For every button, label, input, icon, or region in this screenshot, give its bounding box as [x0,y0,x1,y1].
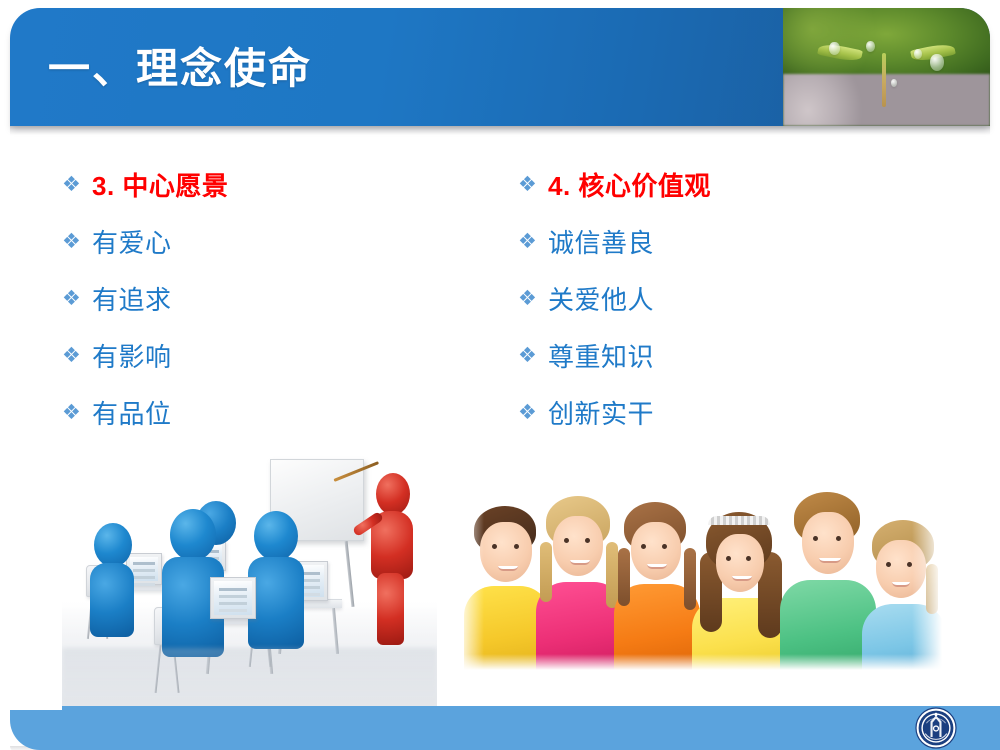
institution-seal-logo[interactable] [914,706,958,750]
list-item[interactable]: ❖ 创新实干 [518,384,938,441]
headband-icon [708,516,770,525]
children-group-photo [458,488,942,670]
child-figure [536,494,624,670]
list-item[interactable]: ❖ 4. 核心价值观 [518,156,938,213]
list-item[interactable]: ❖ 有品位 [62,384,482,441]
list-item-label: 关爱他人 [548,280,654,317]
diamond-bullet-icon: ❖ [518,345,548,366]
list-item[interactable]: ❖ 有爱心 [62,213,482,270]
header-shadow [10,126,990,135]
list-item-label: 4. 核心价值观 [548,166,711,203]
child-figure [614,498,700,670]
slide-header: 一、理念使命 [10,8,990,126]
footer-bar-right [62,706,1000,750]
diamond-bullet-icon: ❖ [62,345,92,366]
list-item[interactable]: ❖ 有追求 [62,270,482,327]
child-figure [692,506,788,670]
diamond-bullet-icon: ❖ [62,174,92,195]
list-item-label: 有追求 [92,280,172,317]
list-item-label: 有品位 [92,394,172,431]
footer-bar-left [10,710,120,750]
diamond-bullet-icon: ❖ [518,174,548,195]
list-item[interactable]: ❖ 诚信善良 [518,213,938,270]
diamond-bullet-icon: ❖ [62,402,92,423]
sprout-seedling-photo [783,8,990,126]
list-item-label: 3. 中心愿景 [92,166,228,203]
column-vision: ❖ 3. 中心愿景 ❖ 有爱心 ❖ 有追求 ❖ 有影响 ❖ 有品位 [62,156,482,441]
classroom-3d-illustration [62,437,437,707]
list-item-label: 有爱心 [92,223,172,260]
page-title: 一、理念使命 [48,48,312,90]
list-item-label: 诚信善良 [548,223,654,260]
list-item-label: 创新实干 [548,394,654,431]
slide-root: 一、理念使命 ❖ 3. 中心愿景 ❖ 有爱心 ❖ 有追求 ❖ 有影响 ❖ 有 [0,0,1000,750]
diamond-bullet-icon: ❖ [518,288,548,309]
list-item[interactable]: ❖ 尊重知识 [518,327,938,384]
diamond-bullet-icon: ❖ [62,288,92,309]
student-figure [86,523,142,651]
column-values: ❖ 4. 核心价值观 ❖ 诚信善良 ❖ 关爱他人 ❖ 尊重知识 ❖ 创新实干 [518,156,938,441]
diamond-bullet-icon: ❖ [62,231,92,252]
diamond-bullet-icon: ❖ [518,402,548,423]
list-item[interactable]: ❖ 关爱他人 [518,270,938,327]
teacher-figure [360,473,420,643]
list-item[interactable]: ❖ 有影响 [62,327,482,384]
list-item-label: 有影响 [92,337,172,374]
list-item-label: 尊重知识 [548,337,654,374]
diamond-bullet-icon: ❖ [518,231,548,252]
list-item[interactable]: ❖ 3. 中心愿景 [62,156,482,213]
